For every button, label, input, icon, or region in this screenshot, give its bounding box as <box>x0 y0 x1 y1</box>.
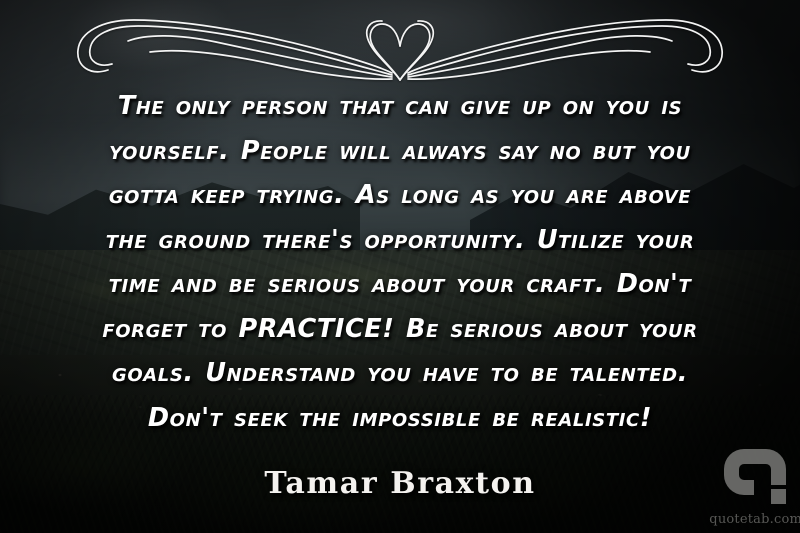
quote-line: forget to PRACTICE! Be serious about you… <box>34 307 766 352</box>
quote-line: yourself. People will always say no but … <box>34 129 766 174</box>
quote-text-block: The only person that can give up on you … <box>34 84 766 440</box>
quote-line: goals. Understand you have to be talente… <box>34 351 766 396</box>
quote-author: Tamar Braxton <box>0 466 800 501</box>
quote-line: time and be serious about your craft. Do… <box>34 262 766 307</box>
quote-line: gotta keep trying. As long as you are ab… <box>34 173 766 218</box>
quote-image-card: The only person that can give up on you … <box>0 0 800 533</box>
quote-line: The only person that can give up on you … <box>34 84 766 129</box>
quote-line: the ground there's opportunity. Utilize … <box>34 218 766 263</box>
quote-line: Don't seek the impossible be realistic! <box>34 396 766 441</box>
